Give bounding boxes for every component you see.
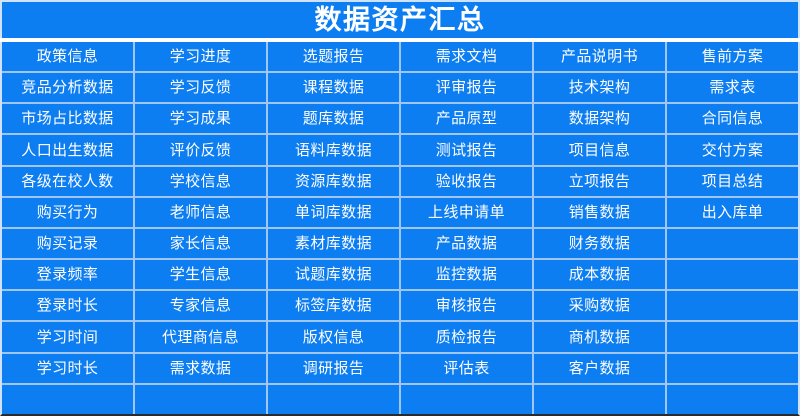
data-asset-cell-label: 评估表 [443, 361, 489, 376]
data-asset-cell[interactable]: 课程数据 [268, 73, 399, 102]
data-asset-cell[interactable]: 版权信息 [268, 322, 399, 351]
data-asset-cell-label: 质检报告 [436, 330, 498, 345]
data-asset-cell[interactable]: 竞品分析数据 [2, 73, 133, 102]
data-asset-cell[interactable]: 老师信息 [135, 198, 266, 227]
data-asset-cell[interactable]: 商机数据 [534, 322, 665, 351]
data-asset-cell[interactable]: 测试报告 [401, 135, 532, 164]
data-asset-cell-label: 客户数据 [569, 361, 631, 376]
data-asset-cell[interactable]: 学习时长 [2, 354, 133, 383]
data-asset-cell-label: 评价反馈 [170, 143, 232, 158]
data-asset-cell[interactable]: 产品原型 [401, 104, 532, 133]
data-asset-cell[interactable]: 交付方案 [667, 135, 798, 164]
data-asset-cell[interactable]: 学校信息 [135, 167, 266, 196]
data-asset-cell[interactable]: 审核报告 [401, 291, 532, 320]
data-asset-cell-label: 产品数据 [436, 236, 498, 251]
data-asset-cell[interactable]: 购买记录 [2, 229, 133, 258]
data-asset-cell[interactable]: 素材库数据 [268, 229, 399, 258]
data-asset-cell-label: 采购数据 [569, 298, 631, 313]
data-asset-cell-empty [135, 385, 266, 414]
data-asset-cell-label: 上线申请单 [428, 205, 505, 220]
data-asset-cell[interactable]: 单词库数据 [268, 198, 399, 227]
data-asset-cell[interactable]: 学习反馈 [135, 73, 266, 102]
data-asset-cell[interactable]: 需求表 [667, 73, 798, 102]
data-asset-cell[interactable]: 销售数据 [534, 198, 665, 227]
data-asset-cell-label: 标签库数据 [295, 298, 372, 313]
data-asset-cell-empty [667, 291, 798, 320]
data-asset-cell-label: 产品原型 [436, 111, 498, 126]
data-asset-grid: 政策信息学习进度选题报告需求文档产品说明书售前方案竞品分析数据学习反馈课程数据评… [2, 42, 798, 414]
data-asset-cell[interactable]: 监控数据 [401, 260, 532, 289]
data-asset-cell[interactable]: 上线申请单 [401, 198, 532, 227]
data-asset-cell[interactable]: 评审报告 [401, 73, 532, 102]
data-asset-cell-label: 专家信息 [170, 298, 232, 313]
data-asset-cell-label: 调研报告 [303, 361, 365, 376]
data-asset-cell[interactable]: 试题库数据 [268, 260, 399, 289]
data-asset-cell-label: 学校信息 [170, 174, 232, 189]
data-asset-cell-label: 销售数据 [569, 205, 631, 220]
data-asset-grid-container: 政策信息学习进度选题报告需求文档产品说明书售前方案竞品分析数据学习反馈课程数据评… [0, 42, 800, 416]
data-asset-cell[interactable]: 调研报告 [268, 354, 399, 383]
data-asset-cell-empty [2, 385, 133, 414]
data-asset-cell[interactable]: 采购数据 [534, 291, 665, 320]
data-asset-cell-label: 数据架构 [569, 111, 631, 126]
page-title: 数据资产汇总 [315, 7, 486, 34]
data-asset-cell[interactable]: 需求文档 [401, 42, 532, 71]
data-asset-cell[interactable]: 学生信息 [135, 260, 266, 289]
data-asset-cell-label: 竞品分析数据 [21, 80, 113, 95]
data-asset-cell[interactable]: 数据架构 [534, 104, 665, 133]
data-asset-cell-label: 选题报告 [303, 49, 365, 64]
data-asset-cell-label: 老师信息 [170, 205, 232, 220]
data-asset-cell-label: 学生信息 [170, 267, 232, 282]
data-asset-cell[interactable]: 售前方案 [667, 42, 798, 71]
data-asset-cell-empty [268, 385, 399, 414]
data-asset-cell-label: 产品说明书 [561, 49, 638, 64]
data-asset-cell-label: 商机数据 [569, 330, 631, 345]
data-asset-cell-label: 家长信息 [170, 236, 232, 251]
data-asset-cell-label: 售前方案 [702, 49, 764, 64]
data-asset-cell-label: 学习进度 [170, 49, 232, 64]
data-asset-cell-empty [401, 385, 532, 414]
data-asset-cell[interactable]: 合同信息 [667, 104, 798, 133]
data-asset-cell-label: 财务数据 [569, 236, 631, 251]
data-asset-cell[interactable]: 财务数据 [534, 229, 665, 258]
data-asset-cell[interactable]: 市场占比数据 [2, 104, 133, 133]
data-asset-cell-label: 学习反馈 [170, 80, 232, 95]
data-asset-cell[interactable]: 验收报告 [401, 167, 532, 196]
data-asset-cell-label: 版权信息 [303, 330, 365, 345]
data-asset-cell-label: 政策信息 [37, 49, 99, 64]
data-asset-cell[interactable]: 客户数据 [534, 354, 665, 383]
data-asset-cell[interactable]: 学习进度 [135, 42, 266, 71]
data-asset-cell-label: 立项报告 [569, 174, 631, 189]
data-asset-cell-label: 代理商信息 [162, 330, 239, 345]
data-asset-cell-label: 交付方案 [702, 143, 764, 158]
data-asset-cell-label: 监控数据 [436, 267, 498, 282]
data-asset-cell[interactable]: 项目总结 [667, 167, 798, 196]
data-asset-cell[interactable]: 选题报告 [268, 42, 399, 71]
data-asset-cell[interactable]: 标签库数据 [268, 291, 399, 320]
data-asset-cell-label: 审核报告 [436, 298, 498, 313]
data-asset-cell[interactable]: 立项报告 [534, 167, 665, 196]
data-asset-cell[interactable]: 技术架构 [534, 73, 665, 102]
data-asset-cell-label: 学习时长 [37, 361, 99, 376]
data-asset-cell-label: 学习成果 [170, 111, 232, 126]
data-asset-cell-label: 需求数据 [170, 361, 232, 376]
data-asset-cell-label: 购买记录 [37, 236, 99, 251]
data-asset-cell[interactable]: 购买行为 [2, 198, 133, 227]
data-asset-cell[interactable]: 需求数据 [135, 354, 266, 383]
data-asset-cell-empty [667, 385, 798, 414]
data-asset-cell-label: 登录时长 [37, 298, 99, 313]
data-asset-cell[interactable]: 评估表 [401, 354, 532, 383]
data-asset-cell-label: 各级在校人数 [21, 174, 113, 189]
data-asset-summary-board: 数据资产汇总 政策信息学习进度选题报告需求文档产品说明书售前方案竞品分析数据学习… [0, 0, 800, 416]
data-asset-cell-label: 语料库数据 [295, 143, 372, 158]
data-asset-cell-label: 课程数据 [303, 80, 365, 95]
data-asset-cell-label: 资源库数据 [295, 174, 372, 189]
data-asset-cell[interactable]: 学习时间 [2, 322, 133, 351]
data-asset-cell[interactable]: 登录时长 [2, 291, 133, 320]
data-asset-cell[interactable]: 质检报告 [401, 322, 532, 351]
board-title-bar: 数据资产汇总 [0, 0, 800, 38]
data-asset-cell[interactable]: 政策信息 [2, 42, 133, 71]
data-asset-cell[interactable]: 专家信息 [135, 291, 266, 320]
data-asset-cell-label: 测试报告 [436, 143, 498, 158]
data-asset-cell[interactable]: 题库数据 [268, 104, 399, 133]
data-asset-cell[interactable]: 评价反馈 [135, 135, 266, 164]
data-asset-cell[interactable]: 产品数据 [401, 229, 532, 258]
data-asset-cell[interactable]: 产品说明书 [534, 42, 665, 71]
data-asset-cell-empty [534, 385, 665, 414]
data-asset-cell[interactable]: 学习成果 [135, 104, 266, 133]
data-asset-cell-label: 评审报告 [436, 80, 498, 95]
data-asset-cell[interactable]: 语料库数据 [268, 135, 399, 164]
data-asset-cell-label: 成本数据 [569, 267, 631, 282]
data-asset-cell[interactable]: 出入库单 [667, 198, 798, 227]
data-asset-cell[interactable]: 各级在校人数 [2, 167, 133, 196]
data-asset-cell-label: 试题库数据 [295, 267, 372, 282]
data-asset-cell-label: 出入库单 [702, 205, 764, 220]
data-asset-cell-label: 项目总结 [702, 174, 764, 189]
data-asset-cell-empty [667, 260, 798, 289]
data-asset-cell[interactable]: 成本数据 [534, 260, 665, 289]
data-asset-cell[interactable]: 人口出生数据 [2, 135, 133, 164]
data-asset-cell-empty [667, 354, 798, 383]
data-asset-cell-label: 需求表 [709, 80, 755, 95]
data-asset-cell-label: 需求文档 [436, 49, 498, 64]
data-asset-cell-label: 学习时间 [37, 330, 99, 345]
data-asset-cell[interactable]: 资源库数据 [268, 167, 399, 196]
data-asset-cell-empty [667, 229, 798, 258]
data-asset-cell-label: 人口出生数据 [21, 143, 113, 158]
data-asset-cell-label: 项目信息 [569, 143, 631, 158]
data-asset-cell-empty [667, 322, 798, 351]
data-asset-cell-label: 合同信息 [702, 111, 764, 126]
data-asset-cell[interactable]: 项目信息 [534, 135, 665, 164]
data-asset-cell-label: 验收报告 [436, 174, 498, 189]
data-asset-cell-label: 技术架构 [569, 80, 631, 95]
data-asset-cell-label: 市场占比数据 [21, 111, 113, 126]
data-asset-cell[interactable]: 代理商信息 [135, 322, 266, 351]
data-asset-cell-label: 登录频率 [37, 267, 99, 282]
data-asset-cell-label: 素材库数据 [295, 236, 372, 251]
data-asset-cell[interactable]: 家长信息 [135, 229, 266, 258]
data-asset-cell-label: 题库数据 [303, 111, 365, 126]
data-asset-cell-label: 购买行为 [37, 205, 99, 220]
data-asset-cell-label: 单词库数据 [295, 205, 372, 220]
data-asset-cell[interactable]: 登录频率 [2, 260, 133, 289]
